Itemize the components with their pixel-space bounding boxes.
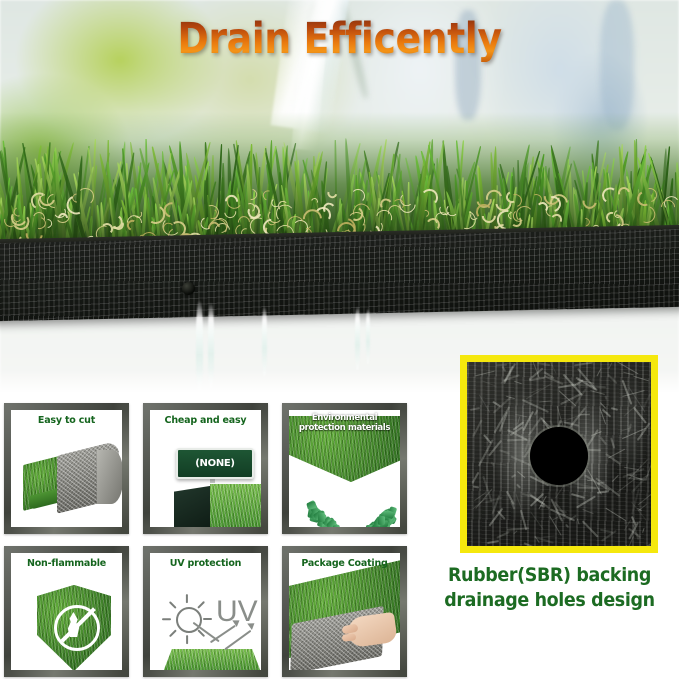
- green-resin-pellets: [307, 494, 399, 527]
- water-drip-stream-3: [262, 306, 267, 376]
- feature-card-cheap-and-easy[interactable]: (NONE) Cheap and easy: [143, 403, 268, 534]
- product-feature-image: Drain Efficently Easy to cut (NONE): [0, 0, 679, 679]
- turf-roll-curl: [97, 450, 122, 504]
- turf-backing-mesh: [0, 229, 679, 322]
- feature-card-environmental-protection[interactable]: Environmental protection materials: [282, 403, 407, 534]
- drainage-hole-marker: [182, 282, 195, 295]
- drainage-hole: [530, 427, 588, 485]
- caption-line-1: Rubber(SBR) backing: [430, 563, 668, 588]
- right-panel-caption: Rubber(SBR) backing drainage holes desig…: [430, 563, 668, 613]
- feature-card-label: UV protection: [150, 558, 261, 569]
- feature-card-label: Non-flammable: [11, 558, 122, 569]
- page-title: Drain Efficently: [41, 14, 639, 64]
- uv-turf-patch: [162, 649, 261, 670]
- grass-mat-sample: [210, 484, 261, 527]
- feature-card-label: Cheap and easy: [150, 415, 261, 426]
- caption-line-2: drainage holes design: [430, 588, 668, 613]
- right-panel: Rubber(SBR) backing drainage holes desig…: [420, 400, 679, 679]
- none-sign-text: (NONE): [195, 458, 234, 469]
- feature-card-easy-to-cut[interactable]: Easy to cut: [4, 403, 129, 534]
- water-drip-stream-4: [355, 306, 360, 370]
- water-drip-stream-5: [366, 308, 370, 364]
- card-art-sign-comparison: (NONE): [150, 410, 261, 527]
- feature-grid: Easy to cut (NONE) Cheap and easy Enviro…: [4, 403, 418, 677]
- card-art-uv-reflect: UV: [150, 553, 261, 670]
- none-sign: (NONE): [176, 448, 254, 479]
- card-art-hand-lifting-turf: [289, 553, 400, 670]
- feature-card-package-coating[interactable]: Package Coating: [282, 546, 407, 677]
- card-art-rolled-turf: [11, 410, 122, 527]
- feature-card-label: Package Coating: [289, 558, 400, 569]
- feature-card-label: Environmental protection materials: [289, 413, 400, 433]
- backing-photo-frame: [460, 355, 658, 553]
- card-art-shield-no-fire: [11, 553, 122, 670]
- reflect-arrow-2: [224, 630, 251, 651]
- feature-card-label: Easy to cut: [11, 415, 122, 426]
- feature-card-uv-protection[interactable]: UV UV protection: [143, 546, 268, 677]
- feature-card-non-flammable[interactable]: Non-flammable: [4, 546, 129, 677]
